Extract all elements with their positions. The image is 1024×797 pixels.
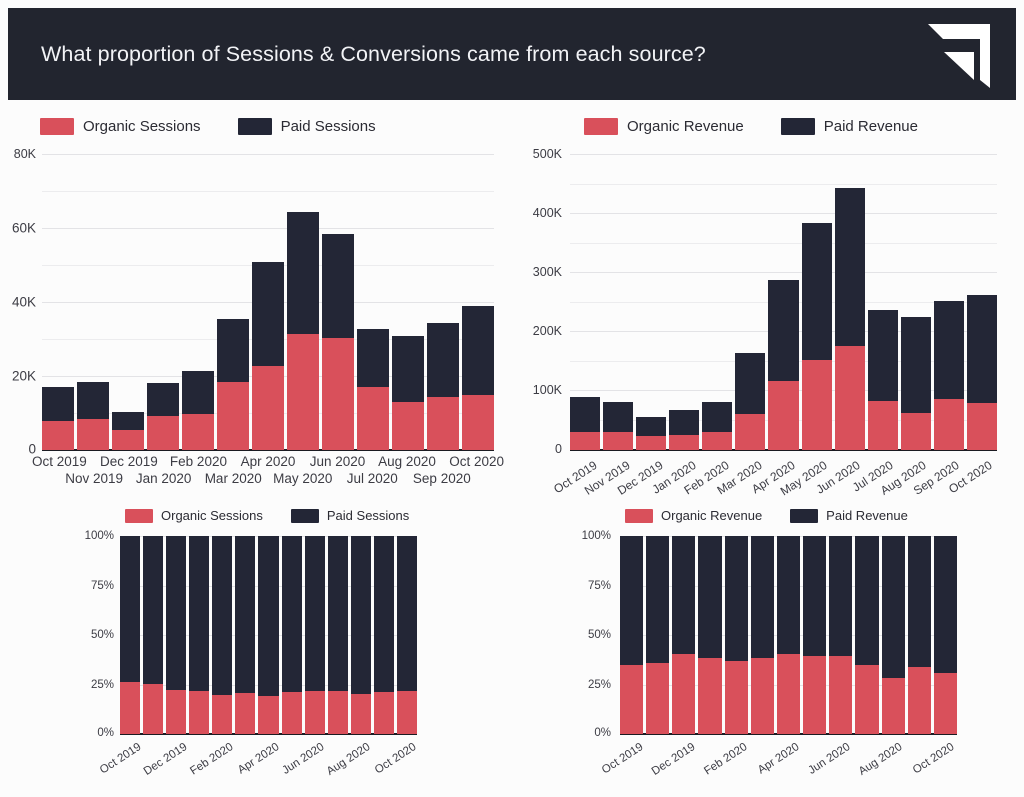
brand-arrow-logo [922,18,996,94]
bar-segment-organic[interactable] [287,334,319,450]
bar-segment-paid[interactable] [235,536,255,693]
bar-column[interactable] [855,536,878,734]
bar-segment-paid[interactable] [669,410,699,435]
bar-segment-paid[interactable] [305,536,325,691]
bar-segment-organic[interactable] [322,338,354,450]
bar-segment-organic[interactable] [702,432,732,450]
bar-column[interactable] [868,154,898,450]
bar-segment-organic[interactable] [908,667,931,734]
x-axis-label: Oct 2020 [444,454,510,469]
bar-segment-organic[interactable] [77,419,109,450]
bar-column[interactable] [835,154,865,450]
legend-item-paid-sessions[interactable]: Paid Sessions [238,118,376,135]
bar-segment-paid[interactable] [835,188,865,345]
bar-segment-organic[interactable] [570,432,600,450]
legend-item-paid-revenue[interactable]: Paid Revenue [790,508,908,523]
x-axis-labels-revenue: Oct 2019Nov 2019Dec 2019Jan 2020Feb 2020… [570,456,997,512]
legend-label-organic: Organic Sessions [83,118,201,135]
bar-column[interactable] [147,154,179,450]
bar-segment-paid[interactable] [212,536,232,695]
bar-column[interactable] [636,154,666,450]
bar-column[interactable] [258,536,278,734]
bar-segment-organic[interactable] [212,695,232,734]
bar-column[interactable] [803,536,826,734]
bar-segment-organic[interactable] [768,381,798,450]
ytick-40k: 40K [0,295,36,310]
x-axis-label: Feb 2020 [687,741,749,787]
ytick-0pct: 0% [80,727,114,739]
legend-swatch-organic [625,509,653,523]
bar-segment-organic[interactable] [646,663,669,734]
legend-item-paid-revenue[interactable]: Paid Revenue [781,118,918,135]
bar-column[interactable] [252,154,284,450]
bar-segment-paid[interactable] [328,536,348,691]
bar-segment-paid[interactable] [374,536,394,692]
ytick-50pct: 50% [565,629,611,641]
bar-segment-paid[interactable] [282,536,302,692]
bar-column[interactable] [882,536,905,734]
bar-segment-organic[interactable] [882,678,905,734]
bar-segment-paid[interactable] [908,536,931,667]
bar-segment-organic[interactable] [392,402,424,450]
bar-segment-organic[interactable] [698,658,721,734]
bar-segment-paid[interactable] [112,412,144,430]
ytick-75pct: 75% [80,580,114,592]
bar-segment-paid[interactable] [620,536,643,665]
legend-label-paid: Paid Revenue [824,118,918,135]
bar-segment-paid[interactable] [77,382,109,419]
dashboard-page: What proportion of Sessions & Conversion… [0,0,1024,797]
bar-segment-paid[interactable] [646,536,669,663]
bar-segment-organic[interactable] [735,414,765,450]
bar-column[interactable] [603,154,633,450]
x-axis-label: Apr 2020 [235,454,301,469]
legend-item-organic-sessions[interactable]: Organic Sessions [40,118,201,135]
x-axis-label: Aug 2020 [843,741,905,787]
bar-segment-paid[interactable] [967,295,997,403]
bar-column[interactable] [217,154,249,450]
chart-sessions-absolute: Organic Sessions Paid Sessions 80K 60K 4… [0,118,512,508]
ytick-0pct: 0% [565,727,611,739]
bar-segment-organic[interactable] [252,366,284,450]
bar-column[interactable] [620,536,643,734]
ytick-25pct: 25% [80,679,114,691]
x-axis-label: Mar 2020 [200,471,266,486]
bar-segment-paid[interactable] [672,536,695,654]
bar-column[interactable] [967,154,997,450]
x-axis-label: Sep 2020 [409,471,475,486]
legend-label-organic: Organic Sessions [161,508,263,523]
ytick-25pct: 25% [565,679,611,691]
bar-segment-paid[interactable] [392,336,424,401]
bar-column[interactable] [305,536,325,734]
bar-segment-organic[interactable] [802,360,832,450]
bar-segment-paid[interactable] [934,536,957,673]
legend-label-organic: Organic Revenue [661,508,762,523]
bar-column[interactable] [934,536,957,734]
bar-segment-paid[interactable] [636,417,666,437]
bar-column[interactable] [735,154,765,450]
bar-segment-paid[interactable] [570,397,600,431]
bar-segment-paid[interactable] [777,536,800,654]
bar-segment-paid[interactable] [603,402,633,432]
ytick-100pct: 100% [80,530,114,542]
bar-column[interactable] [42,154,74,450]
legend-item-organic-sessions[interactable]: Organic Sessions [125,508,263,523]
bar-column[interactable] [829,536,852,734]
bar-column[interactable] [328,536,348,734]
bar-segment-organic[interactable] [901,413,931,450]
bar-column[interactable] [322,154,354,450]
chart-revenue-absolute: Organic Revenue Paid Revenue 500K 400K 3… [512,118,1024,508]
x-axis-label: Jun 2020 [305,454,371,469]
chart-revenue-percent: Organic Revenue Paid Revenue 100% 75% 50… [565,508,985,797]
bar-segment-paid[interactable] [829,536,852,656]
bar-column[interactable] [189,536,209,734]
bar-segment-organic[interactable] [835,346,865,450]
bar-segment-organic[interactable] [855,665,878,734]
ytick-75pct: 75% [565,580,611,592]
ytick-400k: 400K [512,206,562,220]
legend-swatch-organic [40,118,74,135]
bar-segment-organic[interactable] [305,691,325,734]
legend-sessions-pct: Organic Sessions Paid Sessions [125,508,409,523]
bar-group-sessions [42,154,494,450]
bar-segment-organic[interactable] [258,696,278,734]
x-axis-labels-revenue-pct: Oct 2019Dec 2019Feb 2020Apr 2020Jun 2020… [620,739,957,797]
bar-segment-organic[interactable] [143,684,163,734]
bar-segment-organic[interactable] [462,395,494,450]
bar-segment-organic[interactable] [672,654,695,734]
bar-segment-paid[interactable] [868,310,898,402]
bar-column[interactable] [427,154,459,450]
bar-column[interactable] [901,154,931,450]
bar-segment-organic[interactable] [620,665,643,734]
bar-segment-paid[interactable] [217,319,249,382]
bar-segment-paid[interactable] [802,223,832,360]
bar-segment-organic[interactable] [829,656,852,734]
bar-segment-paid[interactable] [166,536,186,690]
plot-area-revenue [570,154,997,450]
bar-group-revenue [570,154,997,450]
ytick-100k: 100K [512,383,562,397]
x-axis-labels-sessions: Oct 2019Nov 2019Dec 2019Jan 2020Feb 2020… [42,454,494,498]
legend-sessions: Organic Sessions Paid Sessions [40,118,376,135]
bar-segment-organic[interactable] [397,691,417,734]
bar-segment-organic[interactable] [803,656,826,734]
ytick-50pct: 50% [80,629,114,641]
bar-segment-paid[interactable] [768,280,798,382]
bar-group-revenue-pct [620,536,957,734]
bar-segment-paid[interactable] [702,402,732,432]
bar-segment-organic[interactable] [777,654,800,734]
bar-segment-paid[interactable] [252,262,284,366]
ytick-0: 0 [512,442,562,456]
bar-column[interactable] [392,154,424,450]
plot-area-revenue-pct [620,536,957,734]
bar-segment-organic[interactable] [603,432,633,450]
bar-segment-organic[interactable] [235,693,255,734]
page-header: What proportion of Sessions & Conversion… [8,8,1016,100]
bar-segment-organic[interactable] [725,661,748,734]
bar-column[interactable] [351,536,371,734]
x-axis-label: Jun 2020 [791,741,853,787]
bar-segment-paid[interactable] [855,536,878,665]
legend-revenue-pct: Organic Revenue Paid Revenue [625,508,908,523]
bar-segment-paid[interactable] [698,536,721,658]
legend-item-organic-revenue[interactable]: Organic Revenue [625,508,762,523]
bar-segment-paid[interactable] [322,234,354,338]
bar-segment-paid[interactable] [735,353,765,414]
bar-segment-organic[interactable] [147,416,179,450]
bar-column[interactable] [166,536,186,734]
plot-area-sessions-pct [120,536,417,734]
bar-segment-paid[interactable] [143,536,163,684]
bar-column[interactable] [908,536,931,734]
bar-group-sessions-pct [120,536,417,734]
bar-segment-paid[interactable] [287,212,319,333]
bar-segment-organic[interactable] [868,401,898,450]
ytick-60k: 60K [0,221,36,236]
legend-label-organic: Organic Revenue [627,118,744,135]
x-axis-label: May 2020 [270,471,336,486]
bar-segment-paid[interactable] [934,301,964,399]
bar-segment-paid[interactable] [901,317,931,413]
bar-column[interactable] [112,154,144,450]
legend-swatch-organic [584,118,618,135]
legend-swatch-paid [781,118,815,135]
bar-segment-organic[interactable] [189,691,209,734]
legend-label-paid: Paid Sessions [327,508,409,523]
bar-column[interactable] [287,154,319,450]
bar-column[interactable] [777,536,800,734]
bar-column[interactable] [120,536,140,734]
bar-segment-paid[interactable] [189,536,209,691]
x-axis-label: Feb 2020 [165,454,231,469]
legend-revenue: Organic Revenue Paid Revenue [584,118,918,135]
bar-column[interactable] [374,536,394,734]
bar-segment-organic[interactable] [166,690,186,734]
bar-column[interactable] [646,536,669,734]
bar-segment-organic[interactable] [357,387,389,450]
bar-segment-organic[interactable] [328,691,348,734]
x-axis-label: Jul 2020 [339,471,405,486]
ytick-300k: 300K [512,265,562,279]
bar-segment-paid[interactable] [182,371,214,414]
ytick-20k: 20K [0,369,36,384]
bar-column[interactable] [397,536,417,734]
bar-column[interactable] [77,154,109,450]
x-axis-label: Oct 2020 [895,741,957,787]
bar-segment-paid[interactable] [147,383,179,416]
bar-column[interactable] [235,536,255,734]
bar-segment-organic[interactable] [182,414,214,450]
bar-column[interactable] [934,154,964,450]
legend-swatch-paid [291,509,319,523]
bar-segment-paid[interactable] [751,536,774,658]
x-axis-label: Oct 2019 [584,741,646,787]
legend-label-paid: Paid Revenue [826,508,908,523]
bar-column[interactable] [802,154,832,450]
bar-column[interactable] [672,536,695,734]
bar-segment-organic[interactable] [427,397,459,450]
bar-segment-organic[interactable] [282,692,302,734]
bar-segment-paid[interactable] [427,323,459,397]
chart-sessions-percent: Organic Sessions Paid Sessions 100% 75% … [80,508,500,797]
x-axis-label: Dec 2019 [96,454,162,469]
bar-segment-paid[interactable] [803,536,826,656]
x-axis-label: Aug 2020 [374,454,440,469]
legend-item-paid-sessions[interactable]: Paid Sessions [291,508,409,523]
ytick-100pct: 100% [565,530,611,542]
bar-column[interactable] [768,154,798,450]
bar-segment-organic[interactable] [42,421,74,450]
bar-segment-paid[interactable] [357,329,389,387]
bar-column[interactable] [669,154,699,450]
bar-segment-organic[interactable] [374,692,394,734]
ytick-500k: 500K [512,147,562,161]
bar-segment-organic[interactable] [112,430,144,450]
legend-swatch-paid [790,509,818,523]
x-axis-label: Jan 2020 [131,471,197,486]
bar-segment-organic[interactable] [934,673,957,734]
page-title: What proportion of Sessions & Conversion… [41,42,706,67]
x-axis-label: Nov 2019 [61,471,127,486]
x-axis-label: Oct 2019 [26,454,92,469]
legend-item-organic-revenue[interactable]: Organic Revenue [584,118,744,135]
bar-segment-organic[interactable] [967,403,997,450]
bar-column[interactable] [702,154,732,450]
bar-column[interactable] [182,154,214,450]
bar-column[interactable] [143,536,163,734]
bar-segment-paid[interactable] [258,536,278,696]
bar-segment-organic[interactable] [217,382,249,450]
bar-segment-organic[interactable] [669,435,699,450]
bar-column[interactable] [725,536,748,734]
bar-segment-paid[interactable] [351,536,371,694]
bar-column[interactable] [698,536,721,734]
legend-swatch-paid [238,118,272,135]
legend-label-paid: Paid Sessions [281,118,376,135]
ytick-80k: 80K [0,147,36,161]
bar-column[interactable] [212,536,232,734]
bar-segment-paid[interactable] [42,387,74,421]
x-axis-label: Dec 2019 [635,741,697,787]
bar-segment-paid[interactable] [397,536,417,691]
plot-area-sessions [42,154,494,450]
x-axis-labels-sessions-pct: Oct 2019Dec 2019Feb 2020Apr 2020Jun 2020… [120,739,417,797]
bar-segment-organic[interactable] [934,399,964,450]
bar-segment-paid[interactable] [882,536,905,678]
bar-segment-paid[interactable] [120,536,140,682]
legend-swatch-organic [125,509,153,523]
bar-column[interactable] [570,154,600,450]
bar-segment-organic[interactable] [120,682,140,734]
bar-column[interactable] [462,154,494,450]
bar-segment-organic[interactable] [636,436,666,450]
bar-column[interactable] [751,536,774,734]
bar-segment-organic[interactable] [751,658,774,734]
ytick-200k: 200K [512,324,562,338]
bar-segment-paid[interactable] [462,306,494,394]
bar-column[interactable] [357,154,389,450]
bar-column[interactable] [282,536,302,734]
bar-segment-organic[interactable] [351,694,371,734]
bar-segment-paid[interactable] [725,536,748,661]
